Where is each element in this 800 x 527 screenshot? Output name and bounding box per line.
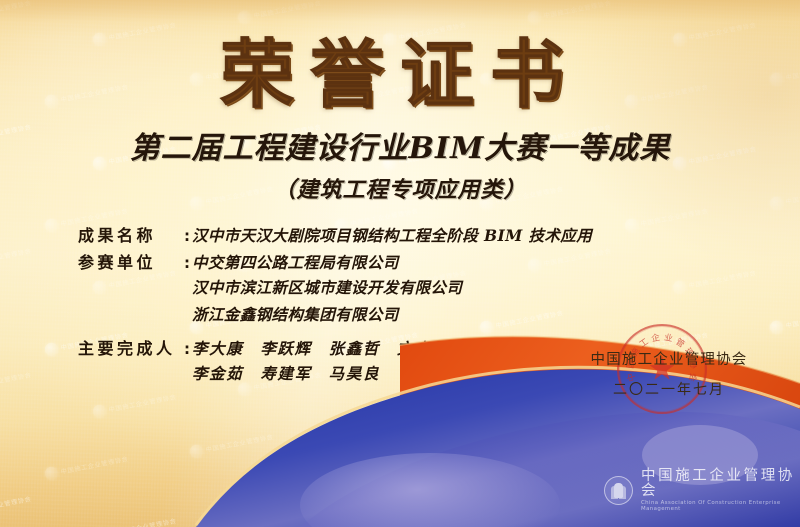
watermark-label: 中国施工企业管理协会	[0, 494, 32, 516]
footer-logo-text: 中国施工企业管理协会 China Association Of Construc…	[641, 469, 800, 513]
watermark-logo: 中国施工企业管理协会	[527, 492, 613, 521]
field-row-achievement-name: 成果名称 : 汉中市天汉大剧院项目钢结构工程全阶段 BIM 技术应用	[78, 222, 718, 249]
watermark-label: 中国施工企业管理协会	[0, 0, 32, 20]
contributor-name: 李跃辉	[260, 337, 311, 359]
watermark-label: 中国施工企业管理协会	[543, 494, 612, 516]
association-seal-icon	[334, 466, 349, 481]
contributor-name: 李金茹	[192, 362, 243, 384]
watermark-logo: 中国施工企业管理协会	[92, 390, 178, 419]
footer-association-logo: 中国施工企业管理协会 China Association Of Construc…	[604, 469, 800, 513]
watermark-logo: 中国施工企业管理协会	[382, 514, 468, 527]
contributor-name: 寿建军	[260, 362, 311, 384]
association-seal-icon	[44, 218, 59, 233]
association-seal-icon	[237, 10, 252, 25]
association-seal-icon	[382, 404, 397, 419]
issuer-organization: 中国施工企业管理协会	[560, 348, 778, 369]
watermark-label: 中国施工企业管理协会	[688, 516, 757, 527]
seal-arc-char: 业	[663, 331, 674, 344]
contributor-name: 马昊良	[329, 362, 380, 384]
watermark-logo: 中国施工企业管理协会	[769, 306, 800, 335]
field-label-contributors: 主要完成人	[78, 335, 184, 359]
field-colon: :	[184, 227, 192, 245]
top-gold-band	[0, 0, 800, 36]
field-value: 汉中市滨江新区城市建设开发有限公司	[192, 276, 462, 298]
association-seal-icon	[527, 10, 542, 25]
association-seal-icon	[769, 444, 784, 459]
watermark-logo: 中国施工企业管理协会	[769, 430, 800, 459]
watermark-label: 中国施工企业管理协会	[253, 494, 322, 516]
watermark-logo: 中国施工企业管理协会	[0, 0, 33, 25]
watermark-label: 中国施工企业管理协会	[108, 392, 177, 414]
watermark-label: 中国施工企业管理协会	[0, 246, 32, 268]
field-colon: :	[184, 254, 192, 272]
contributor-name-list-row2: 李金茹 寿建军 马昊良	[192, 362, 380, 384]
certificate-page: 中国施工企业管理协会中国施工企业管理协会中国施工企业管理协会中国施工企业管理协会…	[0, 0, 800, 527]
watermark-logo: 中国施工企业管理协会	[479, 430, 565, 459]
association-seal-icon	[479, 444, 494, 459]
watermark-logo: 中国施工企业管理协会	[334, 452, 420, 481]
footer-logo-name-en: China Association Of Construction Enterp…	[641, 501, 800, 512]
association-seal-icon	[92, 404, 107, 419]
certificate-subtitle-category: （建筑工程专项应用类）	[0, 172, 800, 204]
watermark-logo: 中国施工企业管理协会	[672, 514, 758, 527]
contributor-name: 程瑶	[448, 337, 482, 359]
watermark-logo: 中国施工企业管理协会	[0, 244, 33, 273]
watermark-label: 中国施工企业管理协会	[495, 432, 564, 454]
watermark-label: 中国施工企业管理协会	[398, 392, 467, 414]
watermark-logo: 中国施工企业管理协会	[44, 452, 130, 481]
watermark-label: 中国施工企业管理协会	[543, 0, 612, 20]
association-seal-icon	[237, 506, 252, 521]
watermark-label: 中国施工企业管理协会	[60, 454, 129, 476]
issue-date: 二〇二一年七月	[560, 379, 778, 399]
certificate-subtitle: 第二届工程建设行业BIM大赛一等成果	[0, 131, 800, 166]
watermark-logo: 中国施工企业管理协会	[527, 0, 613, 25]
contributor-name: 张鑫哲	[329, 337, 380, 359]
watermark-logo: 中国施工企业管理协会	[0, 492, 33, 521]
footer-logo-name-cn: 中国施工企业管理协会	[641, 469, 800, 499]
watermark-label: 中国施工企业管理协会	[253, 0, 322, 20]
field-row-entrant-unit-1: 参赛单位 : 中交第四公路工程局有限公司	[78, 249, 718, 276]
watermark-label: 中国施工企业管理协会	[0, 370, 32, 392]
watermark-label: 中国施工企业管理协会	[108, 516, 177, 527]
field-value: 中交第四公路工程局有限公司	[192, 251, 399, 273]
association-seal-icon	[189, 444, 204, 459]
contributor-name: 文杰	[397, 337, 431, 359]
watermark-label: 中国施工企业管理协会	[205, 432, 274, 454]
association-building-icon	[604, 476, 633, 505]
association-seal-icon	[44, 466, 59, 481]
watermark-label: 中国施工企业管理协会	[398, 516, 467, 527]
seal-arc-char: 企	[650, 331, 661, 344]
watermark-logo: 中国施工企业管理协会	[237, 492, 323, 521]
association-seal-icon	[527, 506, 542, 521]
watermark-logo: 中国施工企业管理协会	[0, 368, 33, 397]
watermark-logo: 中国施工企业管理协会	[92, 514, 178, 527]
association-seal-icon	[769, 320, 784, 335]
watermark-label: 中国施工企业管理协会	[785, 432, 800, 454]
certificate-title: 荣誉证书	[0, 38, 800, 112]
field-colon: :	[184, 340, 192, 358]
association-seal-icon	[44, 342, 59, 357]
contributor-name-list-row1: 李大康 李跃辉 张鑫哲 文杰 程瑶	[192, 337, 482, 359]
watermark-label: 中国施工企业管理协会	[350, 454, 419, 476]
issuer-signature-block: 中国施工企业管理协会 二〇二一年七月	[560, 348, 778, 399]
field-label: 成果名称	[78, 222, 184, 246]
field-value: 浙江金鑫钢结构集团有限公司	[192, 303, 399, 325]
contributor-name: 李大康	[192, 337, 243, 359]
field-label: 参赛单位	[78, 249, 184, 273]
watermark-label: 中国施工企业管理协会	[785, 308, 800, 330]
watermark-logo: 中国施工企业管理协会	[189, 430, 275, 459]
field-value: 汉中市天汉大剧院项目钢结构工程全阶段 BIM 技术应用	[192, 224, 592, 246]
watermark-logo: 中国施工企业管理协会	[382, 390, 468, 419]
field-row-entrant-unit-2: 汉中市滨江新区城市建设开发有限公司	[78, 276, 718, 303]
watermark-logo: 中国施工企业管理协会	[237, 0, 323, 25]
